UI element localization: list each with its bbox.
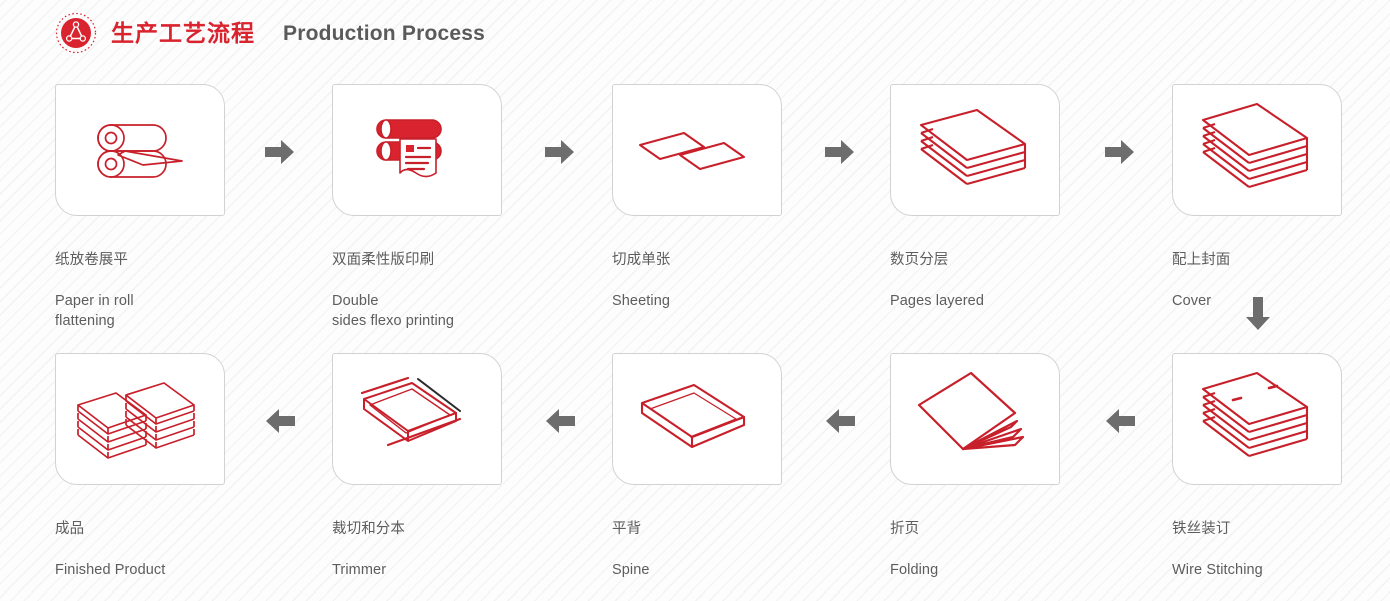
step-label-cn: 配上封面 xyxy=(1172,250,1390,271)
page-title-chinese: 生产工艺流程 xyxy=(111,22,255,45)
step-label-cn: 裁切和分本 xyxy=(332,519,582,540)
step-label: 切成单张 Sheeting xyxy=(612,229,862,332)
step-label: 折页 Folding xyxy=(890,498,1140,601)
process-step-7[interactable]: 折页 Folding xyxy=(890,353,1140,601)
process-step-2[interactable]: 双面柔性版印刷 Double sides flexo printing xyxy=(332,84,582,352)
step-label-en: Spine xyxy=(612,560,862,581)
step-card[interactable] xyxy=(1172,353,1342,485)
step-label-cn: 成品 xyxy=(55,519,305,540)
page-header: 生产工艺流程 Production Process xyxy=(55,12,485,54)
process-step-1[interactable]: 纸放卷展平 Paper in roll flattening xyxy=(55,84,305,352)
step-label: 铁丝装订 Wire Stitching xyxy=(1172,498,1390,601)
paper-roll-flattening-icon xyxy=(85,103,195,198)
cover-stack-icon xyxy=(1197,98,1317,203)
arrow-right-icon xyxy=(265,139,295,165)
step-card[interactable] xyxy=(612,353,782,485)
arrow-right-icon xyxy=(545,139,575,165)
process-step-5[interactable]: 配上封面 Cover xyxy=(1172,84,1390,332)
step-label-cn: 双面柔性版印刷 xyxy=(332,250,582,271)
arrow-left-icon xyxy=(825,408,855,434)
step-label-cn: 切成单张 xyxy=(612,250,862,271)
step-card[interactable] xyxy=(332,84,502,216)
wire-stitching-stack-icon xyxy=(1197,367,1317,472)
step-label-en: Sheeting xyxy=(612,291,862,312)
pages-layered-stack-icon xyxy=(915,100,1035,200)
process-step-8[interactable]: 平背 Spine xyxy=(612,353,862,601)
step-label-en: Finished Product xyxy=(55,560,305,581)
process-step-10[interactable]: 成品 Finished Product xyxy=(55,353,305,601)
arrow-left-icon xyxy=(1105,408,1135,434)
step-label: 配上封面 Cover xyxy=(1172,229,1390,332)
step-label-cn: 纸放卷展平 xyxy=(55,250,305,271)
step-label: 平背 Spine xyxy=(612,498,862,601)
step-label-en: Folding xyxy=(890,560,1140,581)
arrow-left-icon xyxy=(545,408,575,434)
step-label: 纸放卷展平 Paper in roll flattening xyxy=(55,229,305,352)
step-label-en: Wire Stitching xyxy=(1172,560,1390,581)
trimmer-cut-book-icon xyxy=(352,369,482,469)
step-label-cn: 折页 xyxy=(890,519,1140,540)
process-step-9[interactable]: 裁切和分本 Trimmer xyxy=(332,353,582,601)
page-title-english: Production Process xyxy=(283,23,485,44)
arrow-down-icon xyxy=(1245,297,1271,331)
step-card[interactable] xyxy=(55,84,225,216)
arrow-right-icon xyxy=(825,139,855,165)
step-card[interactable] xyxy=(890,353,1060,485)
red-circle-node-logo-icon xyxy=(55,12,97,54)
step-label-en: Cover xyxy=(1172,291,1390,312)
arrow-left-icon xyxy=(265,408,295,434)
arrow-right-icon xyxy=(1105,139,1135,165)
step-label-en: Pages layered xyxy=(890,291,1140,312)
step-label: 数页分层 Pages layered xyxy=(890,229,1140,332)
step-label-cn: 平背 xyxy=(612,519,862,540)
step-label-en: Paper in roll flattening xyxy=(55,291,305,332)
step-card[interactable] xyxy=(890,84,1060,216)
step-card[interactable] xyxy=(612,84,782,216)
process-step-3[interactable]: 切成单张 Sheeting xyxy=(612,84,862,332)
step-label: 裁切和分本 Trimmer xyxy=(332,498,582,601)
step-card[interactable] xyxy=(332,353,502,485)
step-card[interactable] xyxy=(55,353,225,485)
step-label: 双面柔性版印刷 Double sides flexo printing xyxy=(332,229,582,352)
process-step-6[interactable]: 铁丝装订 Wire Stitching xyxy=(1172,353,1390,601)
step-label-en: Trimmer xyxy=(332,560,582,581)
folding-sheet-fan-icon xyxy=(913,367,1038,472)
step-label: 成品 Finished Product xyxy=(55,498,305,601)
step-label-cn: 铁丝装订 xyxy=(1172,519,1390,540)
spine-flat-book-icon xyxy=(632,369,762,469)
flexo-printing-roller-icon xyxy=(362,103,472,198)
sheeting-two-sheets-icon xyxy=(632,103,762,198)
finished-product-stacks-icon xyxy=(70,367,210,472)
step-label-cn: 数页分层 xyxy=(890,250,1140,271)
process-step-4[interactable]: 数页分层 Pages layered xyxy=(890,84,1140,332)
step-label-en: Double sides flexo printing xyxy=(332,291,582,332)
step-card[interactable] xyxy=(1172,84,1342,216)
